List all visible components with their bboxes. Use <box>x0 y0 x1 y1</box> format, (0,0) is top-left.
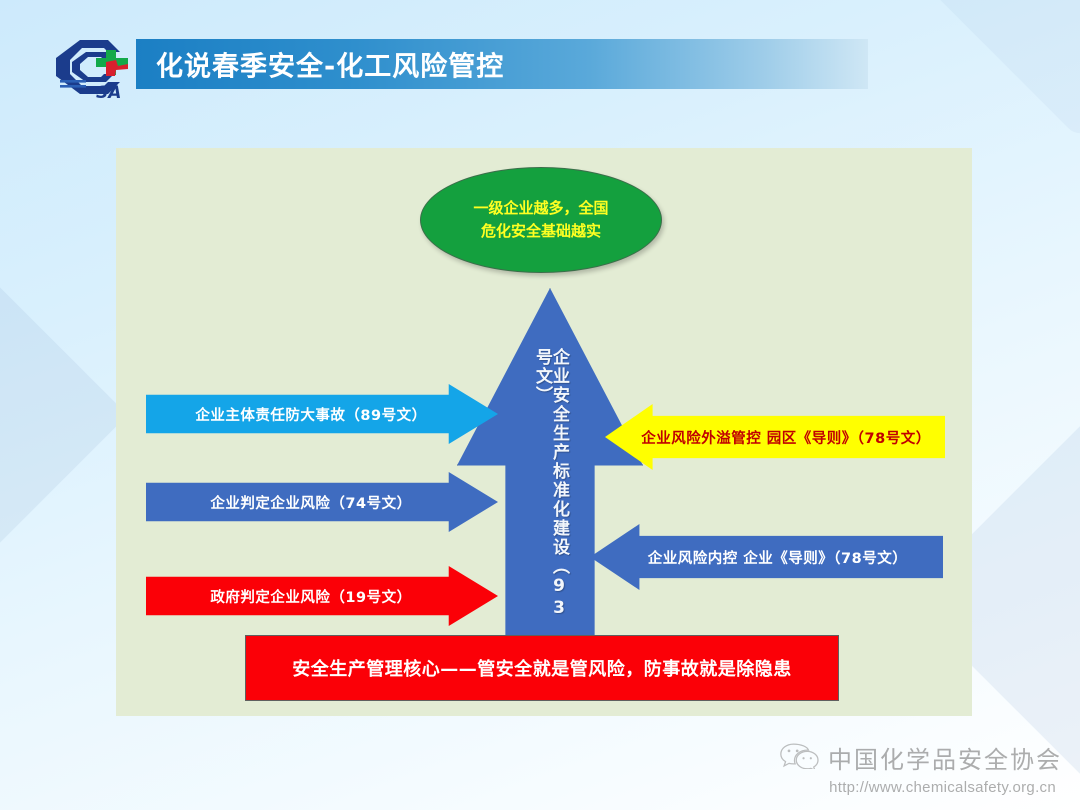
arrow-enterprise-risk-assessment-74: 企业判定企业风险（74号文） <box>146 472 498 532</box>
wechat-icon <box>779 741 819 774</box>
arrow-label-74: 企业判定企业风险（74号文） <box>210 492 411 513</box>
arrow-label-78-internal: 企业风险内控 企业《导则》（78号文） <box>648 547 907 568</box>
arrow-risk-spillover-control-78: 企业风险外溢管控 园区《导则》（78号文） <box>605 404 945 470</box>
goal-ellipse: 一级企业越多，全国 危化安全基础越实 <box>420 167 662 273</box>
arrow-label-19: 政府判定企业风险（19号文） <box>210 586 411 607</box>
slide-canvas: SA 化说春季安全-化工风险管控 一级企业越多，全国 危化安全基础越实 企业安全… <box>0 0 1080 810</box>
arrow-government-risk-assessment-19: 政府判定企业风险（19号文） <box>146 566 498 626</box>
core-principle-banner: 安全生产管理核心——管安全就是管风险，防事故就是除隐患 <box>245 635 839 701</box>
slide-header: SA 化说春季安全-化工风险管控 <box>0 0 1080 118</box>
arrow-enterprise-responsibility-89: 企业主体责任防大事故（89号文） <box>146 384 498 444</box>
slide-footer: 中国化学品安全协会 http://www.chemicalsafety.org.… <box>732 740 1062 796</box>
footer-brand: 中国化学品安全协会 <box>732 740 1062 775</box>
footer-url: http://www.chemicalsafety.org.cn <box>732 779 1056 796</box>
core-principle-text: 安全生产管理核心——管安全就是管风险，防事故就是除隐患 <box>292 655 792 681</box>
svg-text:SA: SA <box>96 83 121 102</box>
arrow-label-89: 企业主体责任防大事故（89号文） <box>195 404 426 425</box>
association-logo-icon: SA <box>46 36 138 102</box>
background-chevron-left <box>0 252 128 577</box>
title-banner: 化说春季安全-化工风险管控 <box>136 39 868 89</box>
footer-org-name: 中国化学品安全协会 <box>828 740 1062 775</box>
goal-ellipse-label: 一级企业越多，全国 危化安全基础越实 <box>473 197 608 244</box>
arrow-internal-risk-control-78: 企业风险内控 企业《导则》（78号文） <box>590 524 943 590</box>
page-title: 化说春季安全-化工风险管控 <box>156 45 504 84</box>
diagram-panel: 一级企业越多，全国 危化安全基础越实 企业安全生产标准化建设（93号文） 企业主… <box>116 148 972 716</box>
arrow-label-78-spillover: 企业风险外溢管控 园区《导则》（78号文） <box>641 427 930 448</box>
